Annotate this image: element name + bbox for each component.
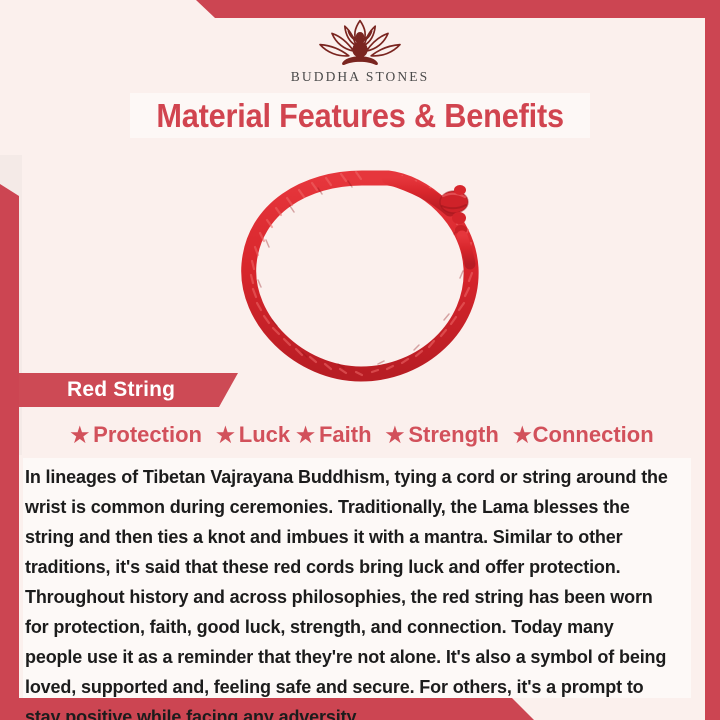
- star-icon: ★: [216, 425, 235, 446]
- brand-name: BUDDHA STONES: [291, 69, 429, 85]
- brand-logo: BUDDHA STONES: [0, 18, 720, 92]
- star-icon: ★: [296, 425, 315, 446]
- keyword-strength: ★ Strength: [386, 422, 499, 448]
- keyword-luck: ★ Luck: [216, 422, 290, 448]
- star-icon: ★: [386, 425, 405, 446]
- keyword-faith: ★ Faith: [296, 422, 371, 448]
- frame-left-accent: [0, 176, 19, 720]
- product-image: [228, 160, 496, 390]
- frame-right-accent: [705, 0, 720, 720]
- red-braided-cord-bracelet-icon: [228, 160, 496, 390]
- keyword-label: Luck: [239, 422, 290, 448]
- poster-canvas: BUDDHA STONES Material Features & Benefi…: [0, 0, 720, 720]
- star-icon: ★: [513, 425, 532, 446]
- description-panel: In lineages of Tibetan Vajrayana Buddhis…: [23, 458, 691, 698]
- keyword-connection: ★ Connection: [513, 422, 654, 448]
- description-text: In lineages of Tibetan Vajrayana Buddhis…: [23, 458, 681, 720]
- keyword-label: Strength: [408, 422, 498, 448]
- lotus-meditation-icon: [312, 18, 408, 68]
- keyword-label: Faith: [319, 422, 372, 448]
- product-name-ribbon: Red String: [19, 373, 238, 407]
- benefit-keyword-row: ★ Protection ★ Luck ★ Faith ★ Strength ★…: [19, 416, 705, 454]
- star-icon: ★: [70, 425, 89, 446]
- keyword-label: Connection: [533, 422, 654, 448]
- product-name-label: Red String: [67, 378, 175, 402]
- keyword-protection: ★ Protection: [70, 422, 202, 448]
- page-title-text: Material Features & Benefits: [156, 97, 564, 135]
- keyword-label: Protection: [93, 422, 202, 448]
- page-title: Material Features & Benefits: [130, 93, 590, 138]
